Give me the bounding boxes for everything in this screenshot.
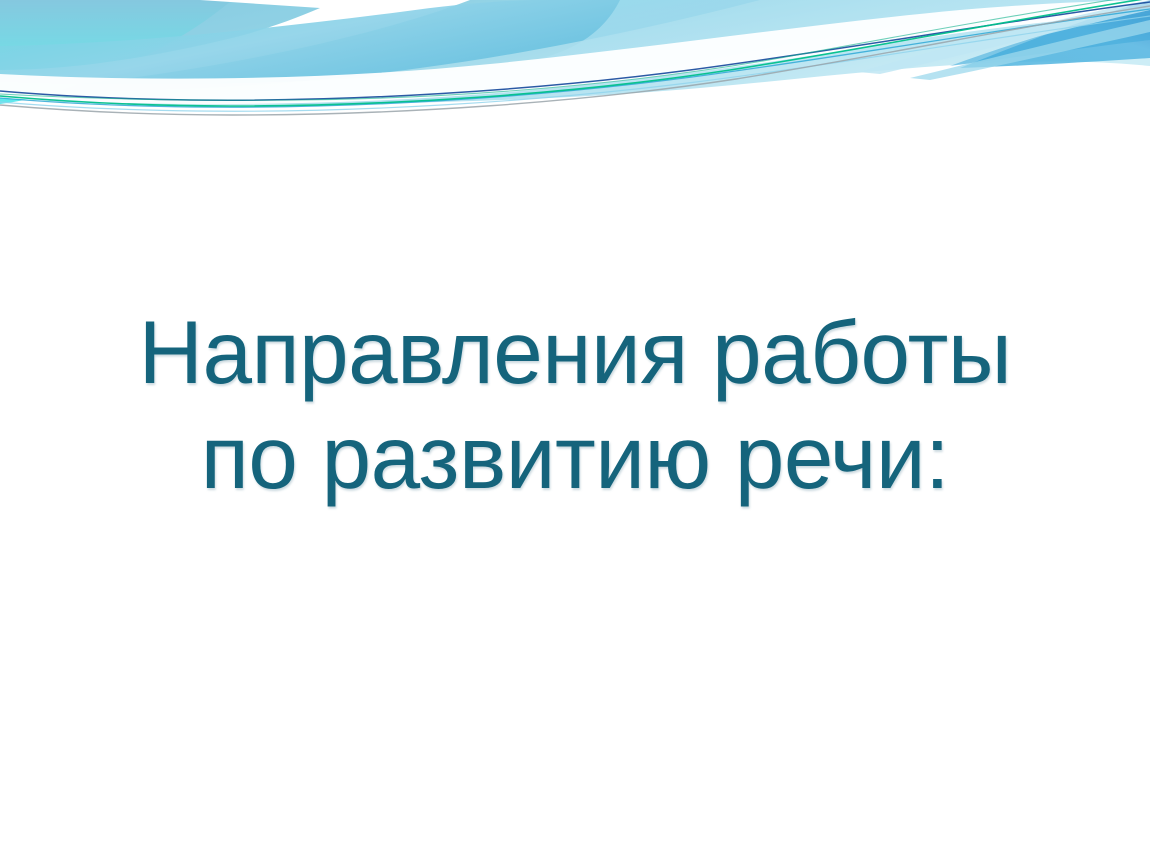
swoosh-right-diagonal-bands bbox=[858, 0, 1150, 80]
swoosh-mid-band bbox=[0, 0, 760, 92]
swoosh-white-base bbox=[0, 118, 1150, 130]
title-block: Направления работы по развитию речи: bbox=[0, 300, 1150, 510]
swoosh-base-band bbox=[0, 0, 1150, 105]
swoosh-white-ribbon-upper bbox=[0, 0, 470, 89]
swoosh-left-cyan bbox=[0, 0, 232, 104]
swoosh-line-strokes bbox=[0, 0, 1150, 115]
swoosh-right-deep-wedge bbox=[950, 0, 1150, 68]
flow-swoosh-graphic bbox=[0, 0, 1150, 130]
page-title: Направления работы по развитию речи: bbox=[0, 300, 1150, 510]
slide: Направления работы по развитию речи: bbox=[0, 0, 1150, 864]
swoosh-white-ribbon-lower bbox=[0, 0, 1150, 104]
header-decoration bbox=[0, 0, 1150, 130]
swoosh-pale-sweep bbox=[0, 0, 1150, 100]
